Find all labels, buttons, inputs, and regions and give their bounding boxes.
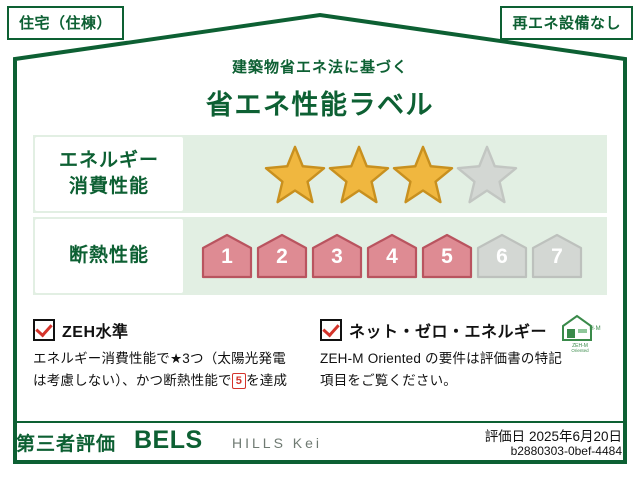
evaluation-id: b2880303-0bef-4484 — [511, 444, 622, 458]
building-name: HILLS Kei — [232, 435, 322, 451]
grade-label: 3 — [311, 245, 363, 269]
grade-label: 2 — [256, 245, 308, 269]
row-energy-caption: エネルギー 消費性能 — [35, 137, 183, 211]
note-nze-line2: 項目をご覧ください。 — [320, 373, 457, 388]
tag-renewable-energy: 再エネ設備なし — [500, 6, 633, 40]
grade-house-icon-inactive: 6 — [476, 233, 528, 279]
row-energy-caption-line1: エネルギー — [59, 150, 159, 171]
grade-label: 5 — [421, 245, 473, 269]
third-party-evaluation-label: 第三者評価 — [16, 429, 116, 456]
checkbox-checked-icon — [33, 319, 55, 341]
insulation-grade-badge: 5 — [232, 373, 246, 389]
insulation-grade-scale: 1 2 3 4 5 — [201, 233, 583, 279]
row-insulation-caption: 断熱性能 — [35, 219, 183, 293]
note-zeh-standard: ZEH水準 エネルギー消費性能で★3つ（太陽光発電 は考慮しない）、かつ断熱性能… — [33, 318, 320, 393]
zeh-m-oriented-logo-icon: H·M ZEH-M Oriented — [559, 312, 601, 352]
note-zeh-line1: エネルギー消費性能で★3つ（太陽光発電 — [33, 351, 286, 366]
footer: 第三者評価 BELS HILLS Kei 評価日 2025年6月20日 b288… — [16, 423, 624, 463]
grade-house-icon-inactive: 7 — [531, 233, 583, 279]
note-net-zero-energy: ネット・ゼロ・エネルギー H·M ZEH-M Oriented ZEH-M Or… — [320, 318, 607, 393]
grade-house-icon: 1 — [201, 233, 253, 279]
grade-label: 7 — [531, 245, 583, 269]
note-zeh-line2-a: は考慮しない）、かつ断熱性能で — [33, 373, 232, 388]
grade-house-icon: 3 — [311, 233, 363, 279]
grade-house-icon: 4 — [366, 233, 418, 279]
grade-house-icon: 2 — [256, 233, 308, 279]
bels-logo: BELS — [134, 426, 203, 455]
star-filled-icon — [328, 144, 390, 204]
grade-label: 4 — [366, 245, 418, 269]
row-insulation-performance: 断熱性能 1 2 3 — [33, 217, 607, 295]
note-nze-body: ZEH-M Oriented の要件は評価書の特記 項目をご覧ください。 — [320, 348, 607, 393]
star-rating — [264, 144, 518, 204]
header-subtitle: 建築物省エネ法に基づく — [0, 56, 640, 77]
row-energy-caption-line2: 消費性能 — [69, 176, 149, 197]
energy-label-card: 住宅（住棟） 再エネ設備なし 建築物省エネ法に基づく 省エネ性能ラベル エネルギ… — [0, 0, 640, 477]
star-empty-icon — [456, 144, 518, 204]
row-insulation-body: 1 2 3 4 5 — [185, 217, 607, 295]
grade-house-icon: 5 — [421, 233, 473, 279]
star-filled-icon — [264, 144, 326, 204]
footer-divider — [16, 421, 624, 423]
grade-label: 1 — [201, 245, 253, 269]
row-energy-performance: エネルギー 消費性能 — [33, 135, 607, 213]
note-nze-title: ネット・ゼロ・エネルギー — [349, 318, 547, 342]
label-header: 建築物省エネ法に基づく 省エネ性能ラベル — [0, 56, 640, 122]
tag-building-type: 住宅（住棟） — [7, 6, 124, 40]
note-zeh-line2-b: を達成 — [246, 373, 287, 388]
grade-label: 6 — [476, 245, 528, 269]
evaluation-date: 評価日 2025年6月20日 — [485, 425, 622, 445]
header-title: 省エネ性能ラベル — [0, 83, 640, 122]
note-nze-line1: ZEH-M Oriented の要件は評価書の特記 — [320, 351, 562, 366]
svg-text:Oriented: Oriented — [571, 348, 589, 352]
svg-text:H·M: H·M — [589, 326, 600, 332]
star-filled-icon — [392, 144, 454, 204]
notes-section: ZEH水準 エネルギー消費性能で★3つ（太陽光発電 は考慮しない）、かつ断熱性能… — [33, 318, 607, 393]
note-zeh-header: ZEH水準 — [33, 318, 320, 342]
note-zeh-body: エネルギー消費性能で★3つ（太陽光発電 は考慮しない）、かつ断熱性能で5を達成 — [33, 348, 320, 393]
performance-rows: エネルギー 消費性能 — [33, 135, 607, 295]
checkbox-checked-icon — [320, 319, 342, 341]
note-zeh-title: ZEH水準 — [62, 318, 129, 342]
row-energy-body — [185, 135, 607, 213]
